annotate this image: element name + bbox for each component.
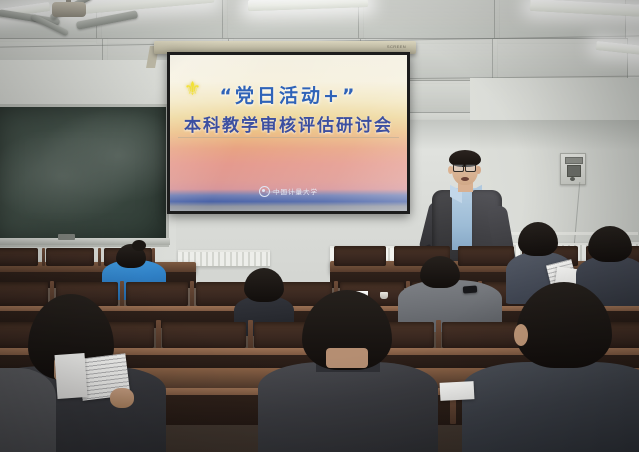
- presenter-ear-right: [476, 166, 481, 174]
- glasses-lens-right: [465, 164, 476, 172]
- slide-subtitle: 本科教学审核评估研讨会: [170, 111, 407, 136]
- eraser-icon[interactable]: [58, 234, 75, 240]
- document-icon[interactable]: [55, 353, 88, 399]
- attendee-front-center-neck: [326, 348, 368, 368]
- document-icon[interactable]: [440, 381, 475, 401]
- panel-button[interactable]: [570, 177, 575, 181]
- screen-case-label: SCREEN: [387, 44, 406, 49]
- wall-control-panel-icon[interactable]: [560, 153, 586, 185]
- attendee-far-right: [578, 226, 639, 298]
- attendee-front-right: [462, 290, 639, 452]
- attendee-front-right-ear: [514, 324, 528, 346]
- slide-title: “党日活动+”: [170, 81, 407, 108]
- university-logo-subtext: CHINA JILIANG UNIVERSITY: [266, 191, 310, 194]
- attendee-front-right-neck: [540, 348, 586, 370]
- attendee-front-left-hand: [110, 388, 134, 408]
- lecture-hall-photo: SCREEN ⚜ “党日活动+” 本科教学审核评估研讨会 中国计量大学 CHIN…: [0, 0, 639, 452]
- panel-display: [565, 157, 583, 164]
- attendee-front-center: [258, 294, 438, 452]
- projector-screen: ⚜ “党日活动+” 本科教学审核评估研讨会 中国计量大学 CHINA JILIA…: [167, 52, 410, 214]
- slide-footer: 中国计量大学 CHINA JILIANG UNIVERSITY: [170, 183, 407, 199]
- chalkboard-dust: [0, 110, 166, 230]
- panel-socket[interactable]: [567, 165, 581, 177]
- attendee-front-right-body: [462, 362, 639, 452]
- attendee-mid-right-paper-hair: [518, 222, 558, 256]
- attendee-far-left-edge: [0, 348, 50, 452]
- attendee-far-left-body: [0, 368, 56, 452]
- presenter-mouth: [461, 177, 469, 181]
- attendee-blue-jacket-bun: [132, 240, 146, 251]
- chalkboard-upper-wall: [0, 60, 170, 106]
- attendee-front-center-body: [258, 362, 438, 452]
- slide-divider: [178, 137, 399, 138]
- presentation-slide: ⚜ “党日活动+” 本科教学审核评估研讨会 中国计量大学 CHINA JILIA…: [170, 55, 407, 211]
- attendee-grey-suit-hair: [420, 256, 460, 288]
- attendee-far-right-hair: [588, 226, 632, 262]
- glasses-bridge: [462, 166, 465, 167]
